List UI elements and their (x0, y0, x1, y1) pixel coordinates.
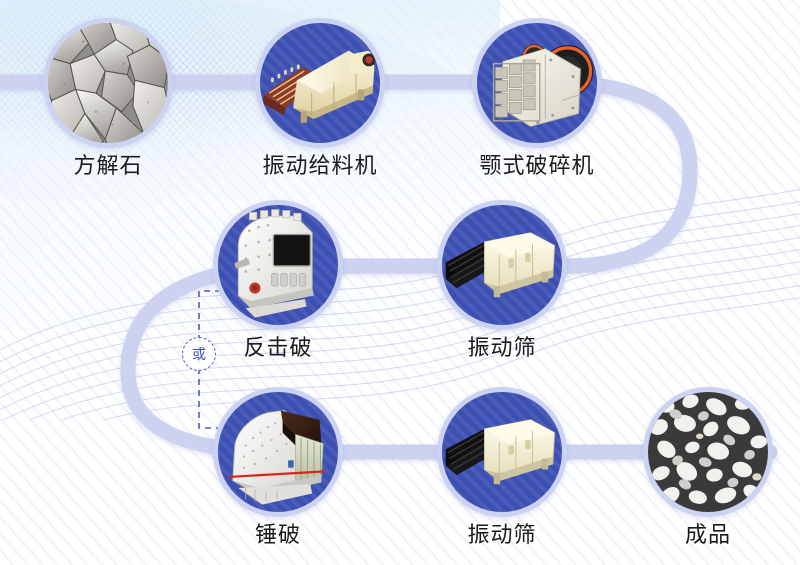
node-hammer-crusher[interactable]: 锤破 (213, 387, 343, 517)
node-jaw-crusher-label: 颚式破碎机 (479, 156, 594, 178)
node-vibrating-feeder-circle (255, 18, 385, 148)
jaw-crusher-icon (477, 23, 597, 143)
node-vibrating-screen-1-circle (437, 200, 567, 330)
node-vibrating-screen-2-circle (437, 387, 567, 517)
node-calcite[interactable]: 方解石 (43, 18, 173, 148)
node-vibrating-feeder[interactable]: 振动给料机 (255, 18, 385, 148)
stone-pile-icon (48, 23, 168, 143)
node-hammer-crusher-label: 锤破 (255, 525, 301, 547)
hammer-crusher-icon (218, 392, 338, 512)
node-jaw-crusher[interactable]: 颚式破碎机 (472, 18, 602, 148)
node-calcite-label: 方解石 (73, 156, 142, 178)
or-branch-marker: 或 (182, 337, 216, 371)
node-finished-product-label: 成品 (685, 525, 731, 547)
node-vibrating-screen-2[interactable]: 振动筛 (437, 387, 567, 517)
node-impact-crusher-label: 反击破 (243, 338, 312, 360)
or-branch-label: 或 (192, 344, 206, 364)
node-jaw-crusher-circle (472, 18, 602, 148)
node-impact-crusher-circle (213, 200, 343, 330)
gravel-pile-icon (648, 392, 768, 512)
node-vibrating-screen-2-label: 振动筛 (467, 525, 536, 547)
node-vibrating-feeder-label: 振动给料机 (262, 156, 377, 178)
node-finished-product-circle (643, 387, 773, 517)
process-flow-diagram: 或 (0, 0, 800, 565)
node-finished-product[interactable]: 成品 (643, 387, 773, 517)
node-vibrating-screen-1-label: 振动筛 (467, 338, 536, 360)
vibrating-screen-icon (442, 392, 562, 512)
node-impact-crusher[interactable]: 反击破 (213, 200, 343, 330)
impact-crusher-icon (218, 205, 338, 325)
vibrating-screen-icon (442, 205, 562, 325)
node-hammer-crusher-circle (213, 387, 343, 517)
vibrating-feeder-icon (260, 23, 380, 143)
node-vibrating-screen-1[interactable]: 振动筛 (437, 200, 567, 330)
node-calcite-circle (43, 18, 173, 148)
